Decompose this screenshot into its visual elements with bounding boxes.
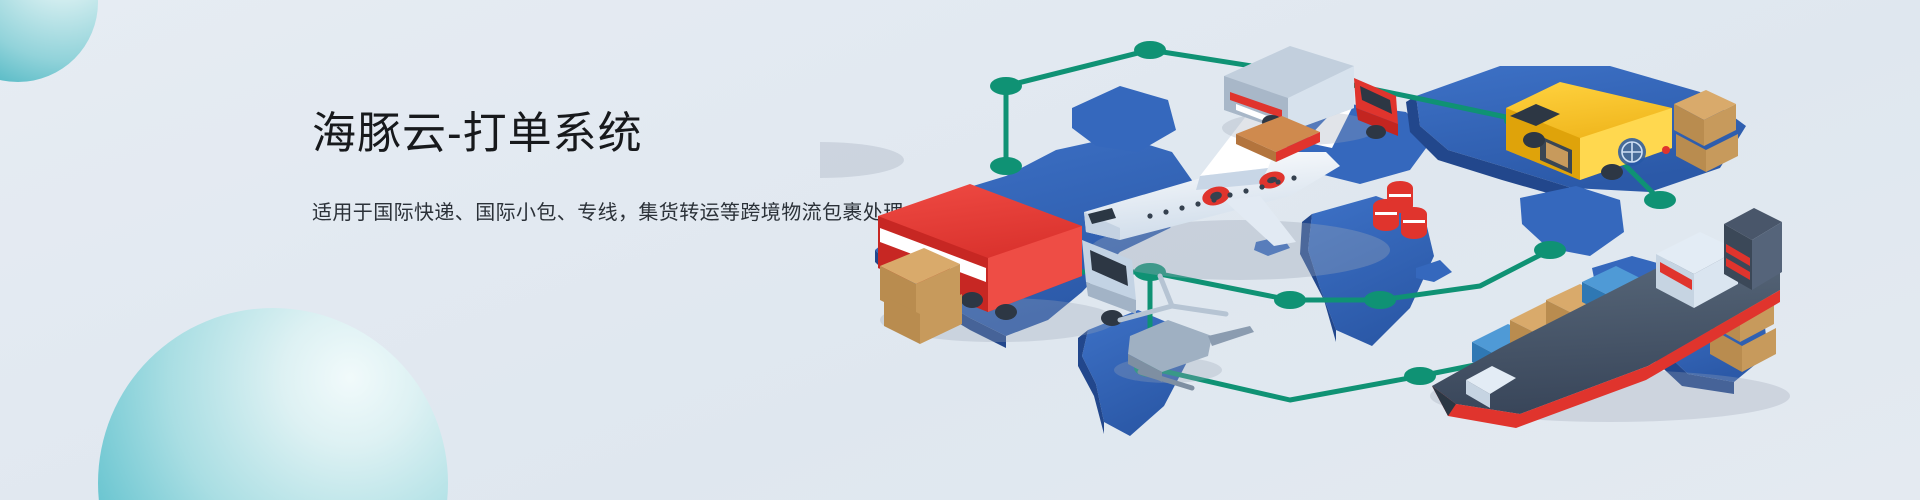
isometric-world-logistics-map [820,0,1920,500]
teal-circle-top-left-icon [0,0,98,82]
page-title: 海豚云-打单系统 [312,108,904,160]
teal-circle-bottom-left-icon [98,308,448,500]
hero-banner: 海豚云-打单系统 适用于国际快递、国际小包、专线，集货转运等跨境物流包裹处理 [0,0,1920,500]
page-subtitle: 适用于国际快递、国际小包、专线，集货转运等跨境物流包裹处理 [312,198,904,228]
cardboard-boxes-icon [880,248,962,344]
hero-text-block: 海豚云-打单系统 适用于国际快递、国际小包、专线，集货转运等跨境物流包裹处理 [312,108,904,228]
cardboard-boxes-icon [1674,90,1738,172]
